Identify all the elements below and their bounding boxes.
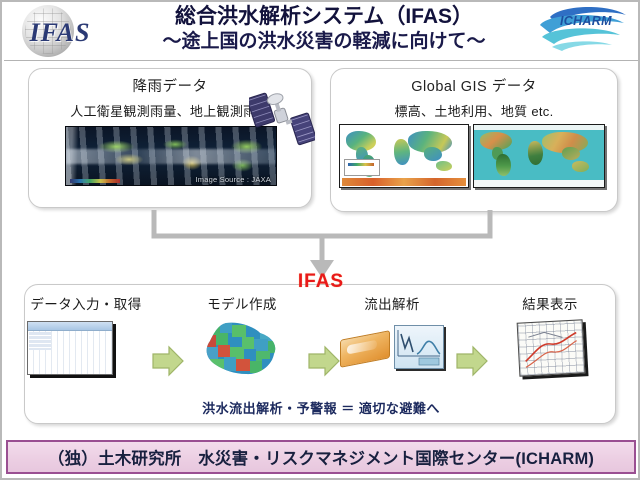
slide-root: IFAS 総合洪水解析システム（IFAS） ～途上国の洪水災害の軽減に向けて～ …	[0, 0, 640, 480]
color-scale-bar	[70, 179, 120, 183]
step-label: データ入力・取得	[27, 293, 145, 313]
rainfall-data-panel: 降雨データ 人工衛星観測雨量、地上観測雨量 Image Source : JAX…	[28, 68, 312, 208]
page-title: 総合洪水解析システム（IFAS）	[124, 4, 524, 29]
arrow-2-icon	[307, 345, 341, 377]
title-block: 総合洪水解析システム（IFAS） ～途上国の洪水災害の軽減に向けて～	[124, 4, 524, 54]
satellite-rainfall-image: Image Source : JAXA	[65, 126, 277, 186]
slide-header: IFAS 総合洪水解析システム（IFAS） ～途上国の洪水災害の軽減に向けて～ …	[4, 2, 638, 61]
basin-model-icon	[183, 321, 301, 382]
arrow-1-icon	[151, 345, 185, 377]
footer-bar: （独）土木研究所 水災害・リスクマネジメント国際センター(ICHARM)	[6, 440, 636, 474]
map-legend	[344, 159, 380, 176]
runoff-analysis-icon	[340, 321, 444, 373]
cloud-band	[66, 149, 276, 164]
page-subtitle: ～途上国の洪水災害の軽減に向けて～	[124, 30, 524, 54]
elevation-world-map	[339, 124, 469, 188]
satellite-icon	[249, 83, 315, 157]
ifas-process-label: IFAS	[25, 271, 617, 293]
process-step-result-display: 結果表示	[491, 293, 609, 375]
footer-organization-text: （独）土木研究所 水災害・リスクマネジメント国際センター(ICHARM)	[48, 445, 594, 469]
gis-data-panel: Global GIS データ 標高、土地利用、地質 etc.	[330, 68, 618, 212]
ifas-logo: IFAS	[8, 4, 113, 58]
result-graph-icon	[518, 321, 582, 375]
icharm-logo: ICHARM	[530, 3, 634, 57]
process-tagline: 洪水流出解析・予警報 ＝ 適切な避難へ	[25, 398, 617, 417]
image-credit: Image Source : JAXA	[195, 175, 271, 184]
antarctic-band	[342, 178, 466, 186]
process-step-data-input: データ入力・取得	[27, 293, 145, 375]
process-step-runoff-analysis: 流出解析	[333, 293, 451, 373]
gis-panel-title: Global GIS データ	[331, 75, 617, 96]
gis-panel-subtitle: 標高、土地利用、地質 etc.	[331, 101, 617, 120]
step-label: モデル作成	[183, 293, 301, 313]
step-label: 結果表示	[491, 293, 609, 313]
process-step-model-creation: モデル作成	[183, 293, 301, 382]
spreadsheet-icon	[27, 321, 145, 375]
icharm-swoosh-icon	[530, 3, 634, 57]
ifas-process-box: IFAS データ入力・取得 モデル作成	[24, 284, 616, 424]
step-label: 流出解析	[333, 293, 451, 313]
icharm-logo-text: ICHARM	[560, 14, 612, 28]
arrow-3-icon	[455, 345, 489, 377]
landuse-world-map	[473, 124, 605, 188]
ifas-logo-text: IFAS	[10, 18, 110, 48]
